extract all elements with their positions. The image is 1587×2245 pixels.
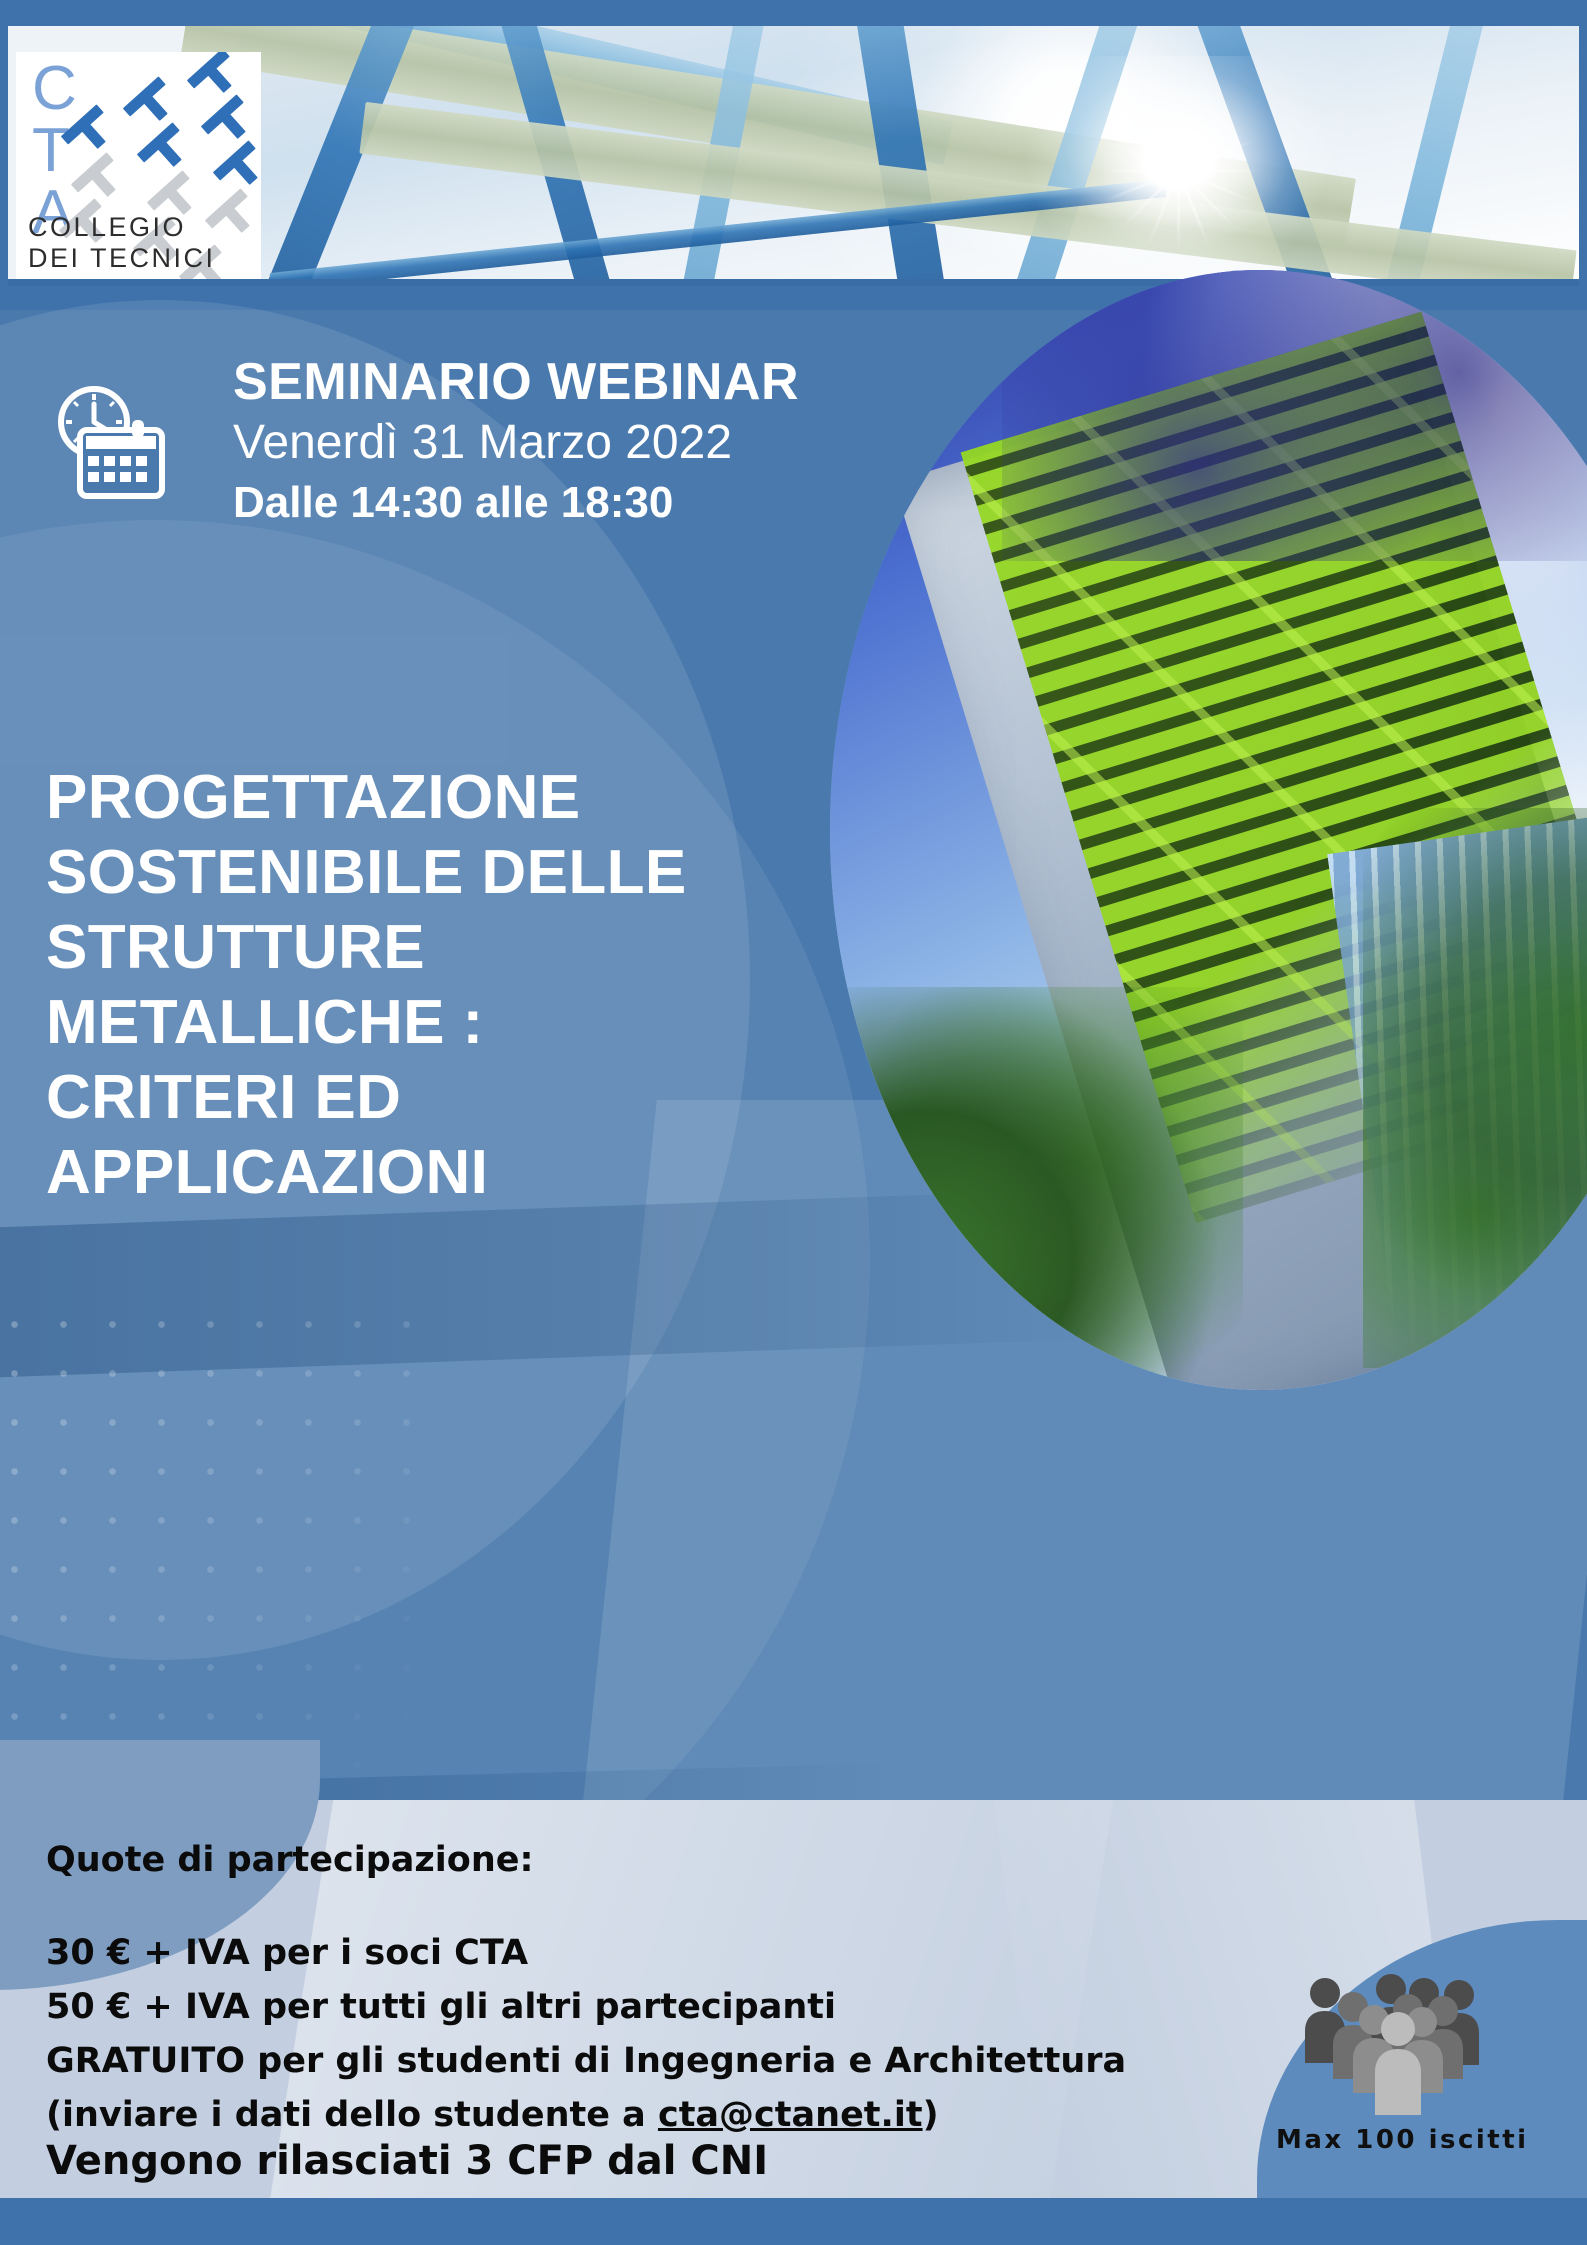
title-line-1: PROGETTAZIONE bbox=[46, 760, 846, 835]
title-line-2: SOSTENIBILE DELLE bbox=[46, 835, 846, 910]
footer-band bbox=[0, 2198, 1587, 2245]
photo-foliage-right-layer bbox=[1363, 808, 1587, 1368]
poster-root: C T A bbox=[0, 0, 1587, 2245]
logo-name-line-2: DEI TECNICI bbox=[28, 243, 261, 274]
header-band: C T A bbox=[0, 0, 1587, 310]
title-line-5: CRITERI ED bbox=[46, 1060, 846, 1135]
fees-line-students: GRATUITO per gli studenti di Ingegneria … bbox=[46, 2034, 1136, 2088]
seminar-title: SEMINARIO WEBINAR bbox=[233, 352, 873, 412]
fees-email-prefix: (inviare i dati dello studente a bbox=[46, 2095, 658, 2135]
steel-truss-photo bbox=[238, 26, 1579, 279]
title-line-4: METALLICHE : bbox=[46, 985, 846, 1060]
fees-block: Quote di partecipazione: 30 € + IVA per … bbox=[46, 1838, 1136, 2142]
header-inner: C T A bbox=[8, 26, 1579, 286]
logo-name: COLLEGIO DEI TECNICI DELL'ACCIAIO bbox=[28, 212, 261, 286]
cta-logo: C T A bbox=[16, 52, 261, 286]
fees-heading: Quote di partecipazione: bbox=[46, 1838, 1136, 1882]
fees-line-others: 50 € + IVA per tutti gli altri partecipa… bbox=[46, 1980, 1136, 2034]
fees-line-members: 30 € + IVA per i soci CTA bbox=[46, 1926, 1136, 1980]
photo-leaves-top-layer bbox=[1002, 270, 1587, 561]
title-line-3: STRUTTURE bbox=[46, 910, 846, 985]
title-line-6: APPLICAZIONI bbox=[46, 1135, 846, 1210]
fees-line-email: (inviare i dati dello studente a cta@cta… bbox=[46, 2088, 1136, 2142]
logo-name-line-3: DELL'ACCIAIO bbox=[28, 274, 261, 286]
logo-name-line-1: COLLEGIO bbox=[28, 212, 261, 243]
photo-foliage-left-layer bbox=[830, 987, 1243, 1390]
seminar-hours: Dalle 14:30 alle 18:30 bbox=[233, 474, 873, 532]
email-link[interactable]: cta@ctanet.it bbox=[658, 2095, 923, 2135]
capacity-block: Max 100 iscitti bbox=[1276, 1965, 1506, 2155]
fees-email-suffix: ) bbox=[923, 2095, 939, 2135]
seminar-date: Venerdì 31 Marzo 2022 bbox=[233, 412, 873, 474]
seminar-text: SEMINARIO WEBINAR Venerdì 31 Marzo 2022 … bbox=[233, 352, 873, 532]
green-building-photo bbox=[830, 270, 1587, 1390]
clock-calendar-icon bbox=[48, 380, 178, 500]
capacity-caption: Max 100 iscitti bbox=[1276, 2125, 1506, 2155]
people-group-icon bbox=[1291, 1965, 1491, 2115]
cfp-credits: Vengono rilasciati 3 CFP dal CNI bbox=[46, 2138, 768, 2184]
page-title: PROGETTAZIONE SOSTENIBILE DELLE STRUTTUR… bbox=[46, 760, 846, 1210]
